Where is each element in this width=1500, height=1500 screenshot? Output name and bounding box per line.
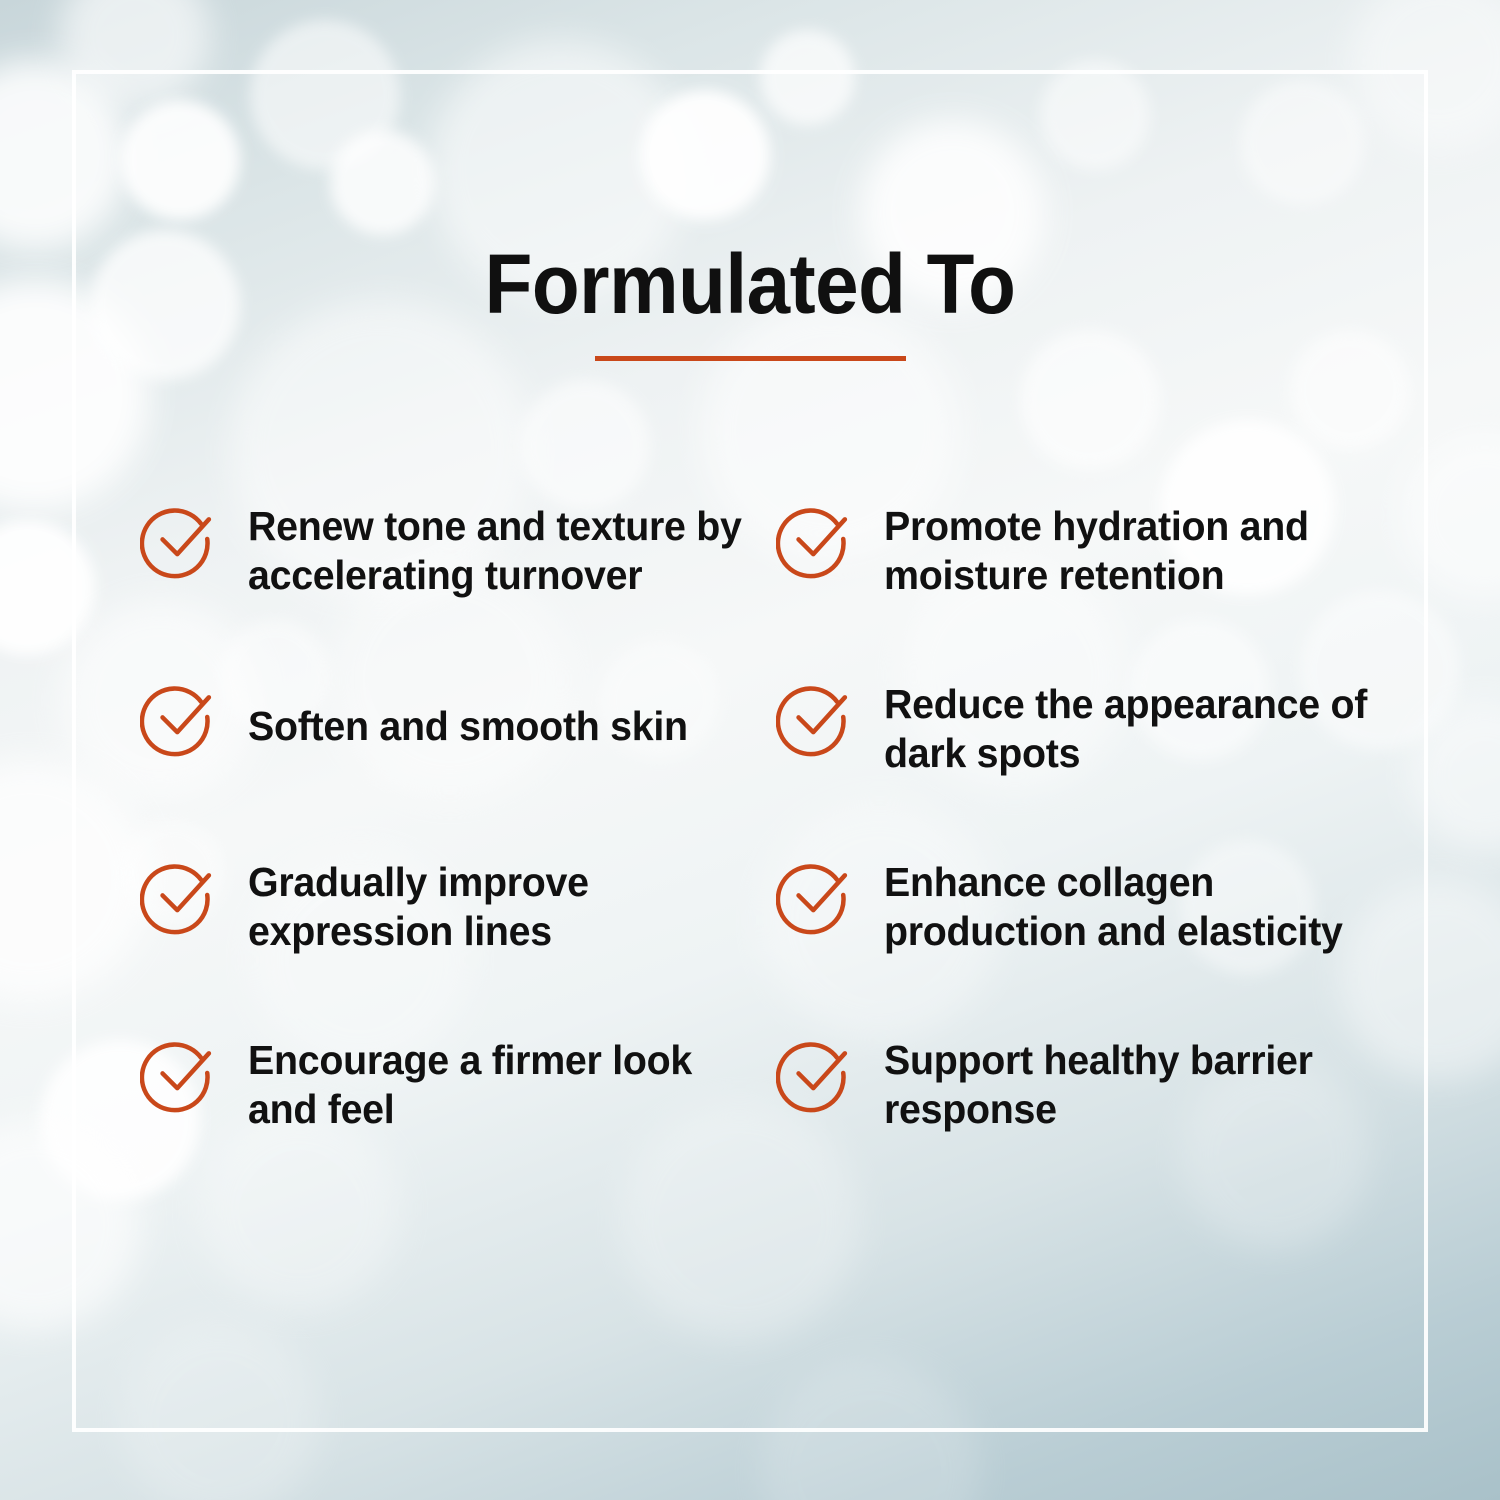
benefit-item: Encourage a firmer look and feel xyxy=(140,1024,776,1202)
title-divider xyxy=(595,356,906,361)
circle-check-icon xyxy=(140,1032,222,1114)
benefit-label: Renew tone and texture by accelerating t… xyxy=(248,490,755,600)
benefit-item: Enhance collagen production and elastici… xyxy=(776,846,1410,1024)
benefit-label: Gradually improve expression lines xyxy=(248,846,755,956)
benefit-item: Gradually improve expression lines xyxy=(140,846,776,1024)
circle-check-icon xyxy=(140,854,222,936)
benefit-label: Soften and smooth skin xyxy=(248,668,688,751)
benefit-item: Support healthy barrier response xyxy=(776,1024,1410,1202)
benefit-label: Reduce the appearance of dark spots xyxy=(884,668,1389,778)
circle-check-icon xyxy=(140,498,222,580)
benefits-grid: Renew tone and texture by accelerating t… xyxy=(140,490,1410,1202)
circle-check-icon xyxy=(776,676,858,758)
circle-check-icon xyxy=(776,1032,858,1114)
formulated-to-poster: Formulated To Renew tone and texture by … xyxy=(0,0,1500,1500)
benefit-item: Reduce the appearance of dark spots xyxy=(776,668,1410,846)
benefit-label: Promote hydration and moisture retention xyxy=(884,490,1389,600)
benefit-item: Renew tone and texture by accelerating t… xyxy=(140,490,776,668)
poster-header: Formulated To xyxy=(0,236,1500,361)
benefit-label: Encourage a firmer look and feel xyxy=(248,1024,755,1134)
benefit-label: Support healthy barrier response xyxy=(884,1024,1389,1134)
circle-check-icon xyxy=(776,498,858,580)
circle-check-icon xyxy=(776,854,858,936)
benefit-item: Soften and smooth skin xyxy=(140,668,776,846)
benefit-label: Enhance collagen production and elastici… xyxy=(884,846,1389,956)
page-title: Formulated To xyxy=(53,236,1448,332)
circle-check-icon xyxy=(140,676,222,758)
benefit-item: Promote hydration and moisture retention xyxy=(776,490,1410,668)
